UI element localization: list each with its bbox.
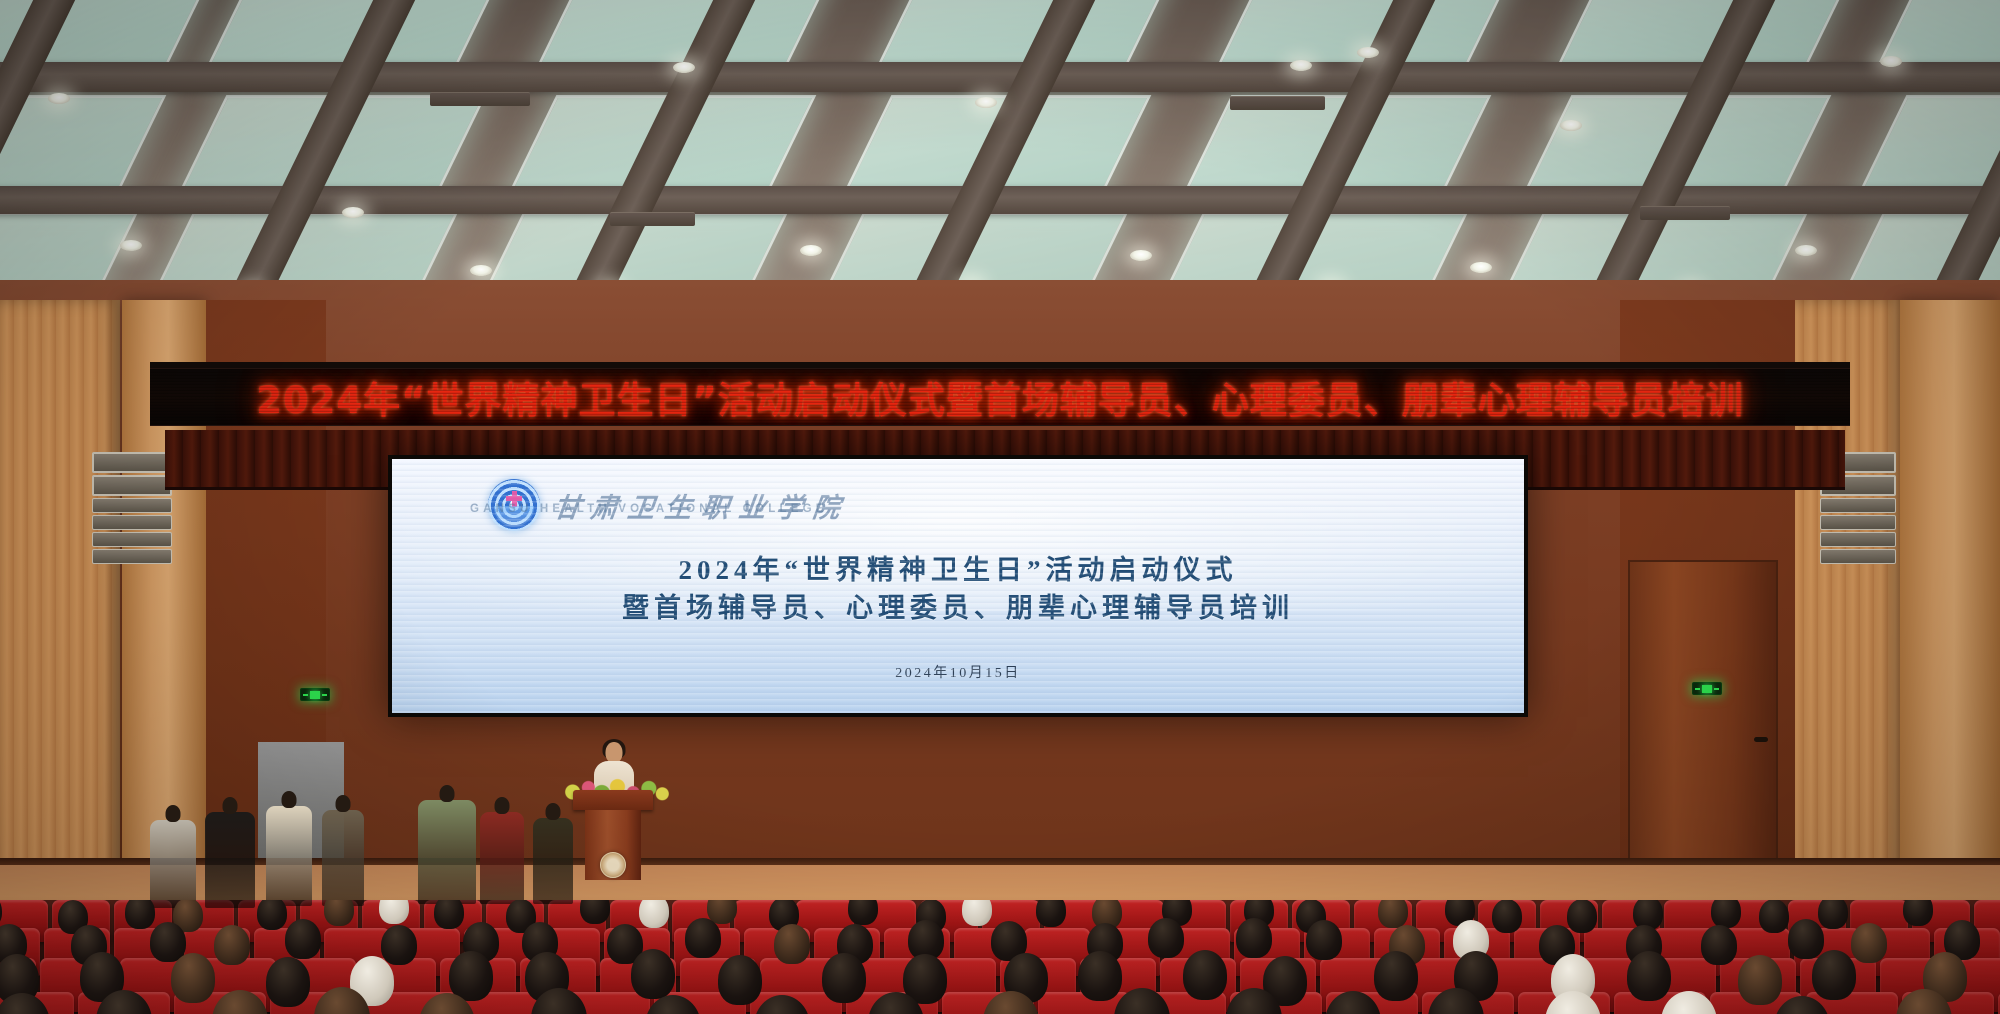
standing-attendee [322, 810, 364, 906]
podium-top [573, 790, 653, 810]
audience-member-head [1378, 900, 1408, 928]
wall-column-right [1898, 300, 2000, 912]
ceiling-downlight [1470, 262, 1492, 273]
audience-member-head [822, 953, 866, 1003]
speaker-box [92, 515, 172, 530]
standing-attendee-head [166, 805, 181, 822]
audience-member-head [1759, 900, 1789, 933]
standing-attendee-head [546, 803, 561, 820]
ceiling-downlight [673, 62, 695, 73]
standing-attendee-head [223, 797, 238, 814]
wall-wood-panel-left [0, 300, 120, 910]
ceiling-downlight [1795, 245, 1817, 256]
door-handle-icon [1754, 737, 1768, 742]
audience-member-head [1701, 925, 1737, 965]
audience-member-head [1738, 955, 1782, 1005]
ceiling-downlight [800, 245, 822, 256]
standing-attendee [150, 820, 196, 908]
audience-member-head [1374, 951, 1418, 1001]
ceiling-downlight [1290, 60, 1312, 71]
audience-member-head [1236, 918, 1272, 958]
audience-member-head [1567, 900, 1597, 933]
line-array-speaker-left [92, 452, 172, 566]
ceiling-downlight [120, 240, 142, 251]
speaker-box [92, 549, 172, 564]
ceiling-air-vent [610, 212, 695, 226]
audience-member-head [285, 919, 321, 959]
ceiling [0, 0, 2000, 300]
slide-title-line-1: 2024年“世界精神卫生日”活动启动仪式 [392, 551, 1524, 589]
audience-member-head [1036, 900, 1066, 927]
ceiling-air-vent [1640, 206, 1730, 220]
ceiling-downlight [342, 207, 364, 218]
audience-member-head [1306, 920, 1342, 960]
audience-member-head [962, 900, 992, 926]
auditorium-scene: 2024年“世界精神卫生日”活动启动仪式暨首场辅导员、心理委员、朋辈心理辅导员培… [0, 0, 2000, 1014]
audience-member-head [631, 949, 675, 999]
projection-screen: 甘肃卫生职业学院 GANSU HEALTH VOCATIONAL COLLEGE… [392, 459, 1524, 713]
speaker-box [92, 498, 172, 513]
projection-screen-frame: 甘肃卫生职业学院 GANSU HEALTH VOCATIONAL COLLEGE… [388, 455, 1528, 717]
ceiling-downlight [1130, 250, 1152, 261]
speaker-box [92, 452, 172, 473]
podium-body [585, 810, 641, 880]
exit-sign-right [1692, 682, 1722, 695]
audience-member-head [379, 900, 409, 924]
audience-member-head [685, 918, 721, 958]
ceiling-downlight [975, 97, 997, 108]
led-banner-text: 2024年“世界精神卫生日”活动启动仪式暨首场辅导员、心理委员、朋辈心理辅导员培… [256, 370, 1744, 424]
audience-member-head [214, 925, 250, 965]
podium-emblem-icon [600, 852, 626, 878]
led-banner: 2024年“世界精神卫生日”活动启动仪式暨首场辅导员、心理委员、朋辈心理辅导员培… [150, 368, 1850, 426]
audience-member-head [1851, 923, 1887, 963]
ceiling-downlight [48, 93, 70, 104]
slide-title-block: 2024年“世界精神卫生日”活动启动仪式 暨首场辅导员、心理委员、朋辈心理辅导员… [392, 551, 1524, 628]
exit-sign-left [300, 688, 330, 701]
speaker-box [1820, 549, 1896, 564]
standing-attendee-head [282, 791, 297, 808]
speaker-podium [573, 790, 653, 880]
audience-member-head [257, 900, 287, 930]
audience-member-head [1903, 900, 1933, 926]
standing-attendee-head [495, 797, 510, 814]
audience-member-head [1078, 951, 1122, 1001]
audience-member-head [171, 953, 215, 1003]
ceiling-downlight [470, 265, 492, 276]
audience-member-head [125, 900, 155, 929]
audience-member-head [1492, 900, 1522, 933]
audience-member-head [381, 925, 417, 965]
slide-title-line-2: 暨首场辅导员、心理委员、朋辈心理辅导员培训 [392, 589, 1524, 627]
standing-attendee [480, 812, 524, 904]
audience-member-head [1183, 950, 1227, 1000]
ceiling-downlight [1560, 120, 1582, 131]
audience-member-head [1818, 900, 1848, 929]
standing-attendee [266, 806, 312, 906]
presenter-head [606, 742, 623, 763]
audience-member-head [324, 900, 354, 926]
standing-attendee [418, 800, 476, 904]
audience-seating-area [0, 900, 2000, 1014]
ceiling-air-vent [1230, 96, 1325, 110]
audience-member-head [266, 957, 310, 1007]
institution-name-en: GANSU HEALTH VOCATIONAL COLLEGE [470, 503, 828, 515]
speaker-box [1820, 532, 1896, 547]
audience-member-head [639, 900, 669, 928]
speaker-box [92, 532, 172, 547]
ceiling-downlight [1880, 56, 1902, 67]
audience-member-head [1627, 951, 1671, 1001]
audience-member-head [1812, 950, 1856, 1000]
speaker-box [1820, 515, 1896, 530]
speaker-box [92, 475, 172, 496]
audience-member-head [774, 924, 810, 964]
standing-attendee-head [336, 795, 351, 812]
standing-attendee [533, 818, 573, 904]
audience-member-head [580, 900, 610, 924]
slide-date: 2024年10月15日 [392, 662, 1524, 682]
speaker-box [1820, 498, 1896, 513]
standing-attendee [205, 812, 255, 908]
audience-member-head [434, 900, 464, 929]
audience-member-head [718, 955, 762, 1005]
ceiling-air-vent [430, 92, 530, 106]
ceiling-downlight [1357, 47, 1379, 58]
standing-attendee-head [440, 785, 455, 802]
audience-member-head [1148, 918, 1184, 958]
audience-member-head [1788, 919, 1824, 959]
